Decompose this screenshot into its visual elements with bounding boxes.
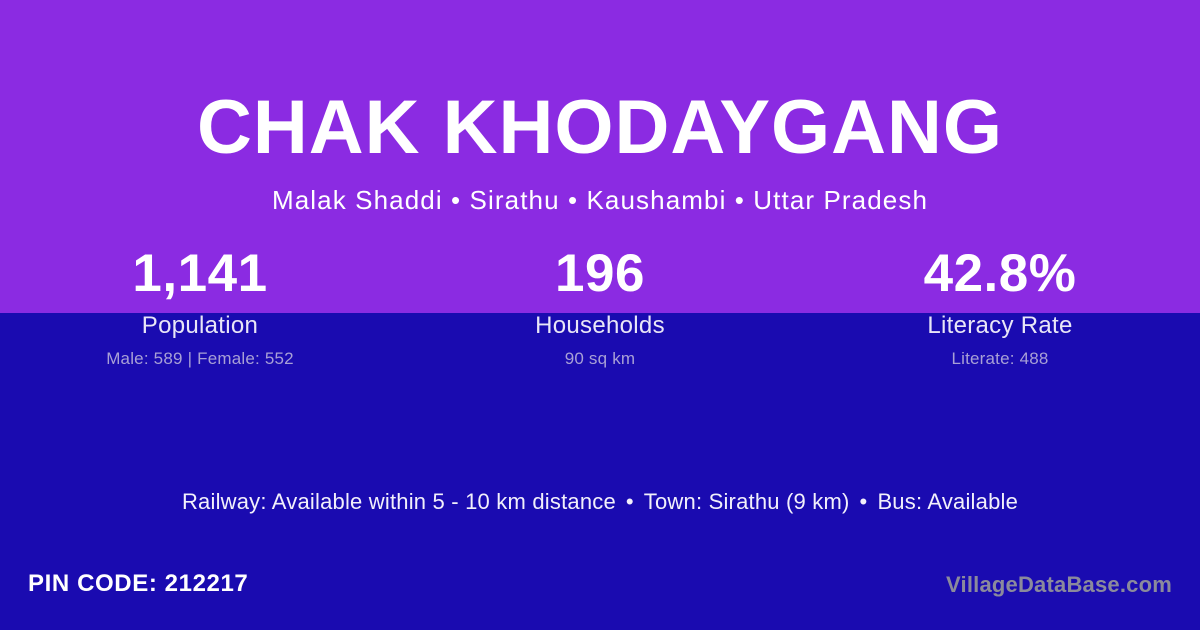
stat-value: 42.8% bbox=[800, 244, 1200, 304]
stat-population: 1,141 Population Male: 589 | Female: 552 bbox=[0, 244, 400, 370]
site-watermark: VillageDataBase.com bbox=[946, 570, 1172, 600]
amenity-separator: • bbox=[616, 489, 644, 514]
breadcrumb: Malak Shaddi • Sirathu • Kaushambi • Utt… bbox=[0, 183, 1200, 217]
stat-sublabel: Literate: 488 bbox=[800, 348, 1200, 370]
amenity-bus: Bus: Available bbox=[877, 489, 1018, 514]
village-info-card: CHAK KHODAYGANG Malak Shaddi • Sirathu •… bbox=[0, 0, 1200, 630]
stat-literacy-rate: 42.8% Literacy Rate Literate: 488 bbox=[800, 244, 1200, 370]
stat-label: Literacy Rate bbox=[800, 312, 1200, 340]
pin-code: PIN CODE: 212217 bbox=[28, 568, 248, 600]
stats-row: 1,141 Population Male: 589 | Female: 552… bbox=[0, 244, 1200, 370]
stat-value: 196 bbox=[400, 244, 800, 304]
stat-value: 1,141 bbox=[0, 244, 400, 304]
stat-label: Households bbox=[400, 312, 800, 340]
amenity-town: Town: Sirathu (9 km) bbox=[644, 489, 850, 514]
amenity-railway: Railway: Available within 5 - 10 km dist… bbox=[182, 489, 616, 514]
amenity-separator: • bbox=[850, 489, 878, 514]
stat-sublabel: Male: 589 | Female: 552 bbox=[0, 348, 400, 370]
stat-sublabel: 90 sq km bbox=[400, 348, 800, 370]
page-title: CHAK KHODAYGANG bbox=[0, 84, 1200, 172]
amenities-line: Railway: Available within 5 - 10 km dist… bbox=[0, 487, 1200, 517]
stat-households: 196 Households 90 sq km bbox=[400, 244, 800, 370]
card-footer: PIN CODE: 212217 VillageDataBase.com bbox=[0, 558, 1200, 630]
stat-label: Population bbox=[0, 312, 400, 340]
